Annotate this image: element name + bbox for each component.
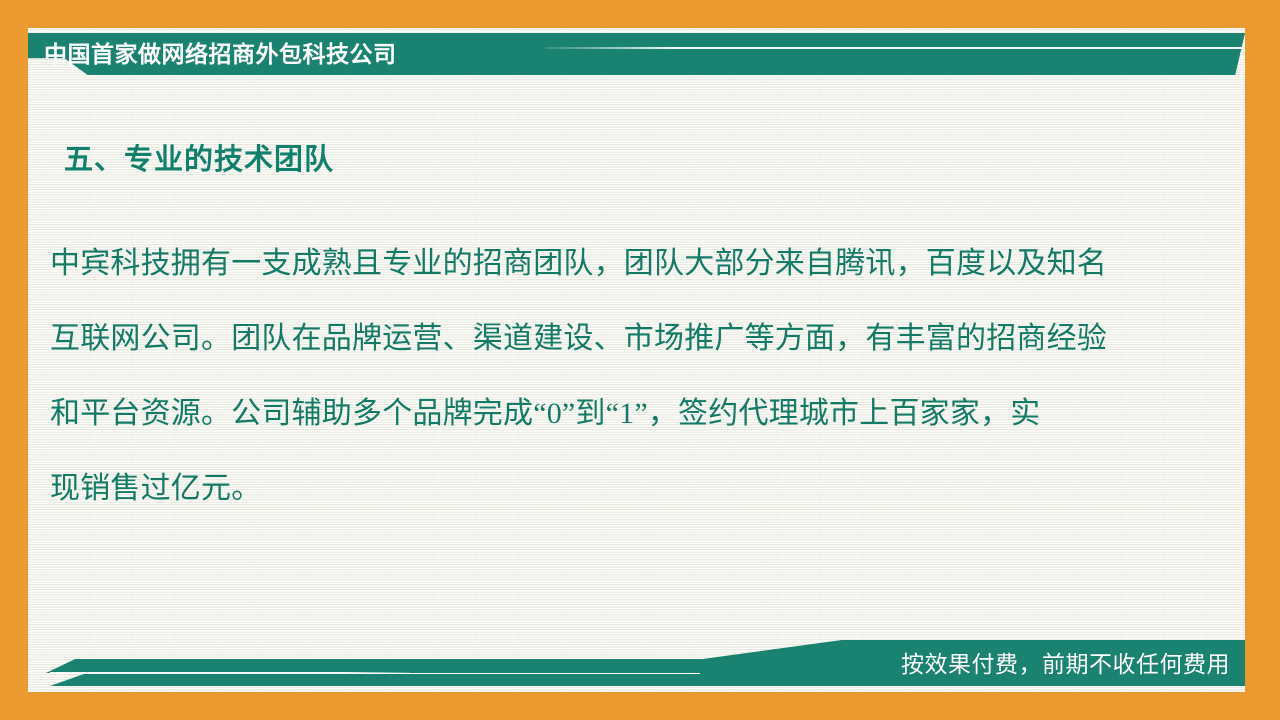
footer-tagline: 按效果付费，前期不收任何费用 (901, 640, 1230, 686)
footer-hairline (50, 672, 410, 674)
body-paragraph: 中宾科技拥有一支成熟且专业的招商团队，团队大部分来自腾讯，百度以及知名 互联网公… (50, 226, 1190, 526)
header-banner-text: 中国首家做网络招商外包科技公司 (44, 33, 397, 75)
body-line-1: 中宾科技拥有一支成熟且专业的招商团队，团队大部分来自腾讯，百度以及知名 (50, 226, 1190, 301)
presentation-slide: 中国首家做网络招商外包科技公司 五、专业的技术团队 中宾科技拥有一支成熟且专业的… (0, 0, 1280, 720)
header-accent-line (545, 47, 1243, 49)
section-heading: 五、专业的技术团队 (64, 136, 334, 178)
body-line-2: 互联网公司。团队在品牌运营、渠道建设、市场推广等方面，有丰富的招商经验 (50, 301, 1190, 376)
body-line-4: 现销售过亿元。 (50, 451, 1190, 526)
body-line-3: 和平台资源。公司辅助多个品牌完成“0”到“1”，签约代理城市上百家家，实 (50, 376, 1190, 451)
